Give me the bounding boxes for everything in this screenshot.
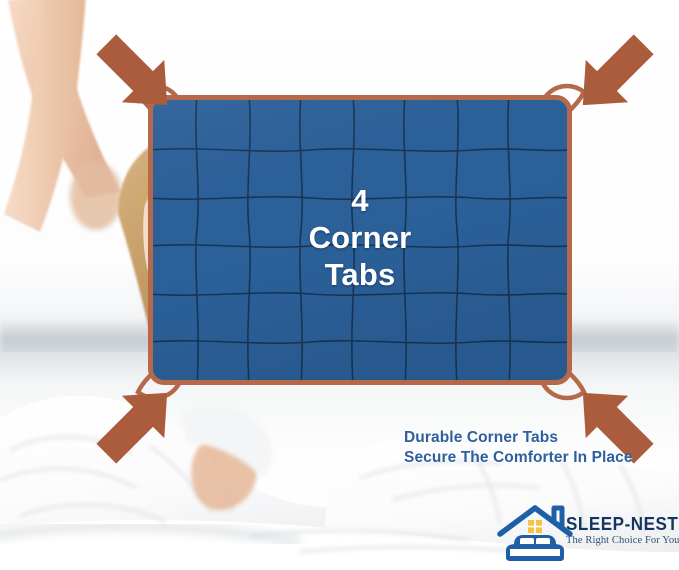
product-image: 4 Corner Tabs Durable Corner Tabs Secure…: [0, 0, 679, 570]
comforter-body: [148, 95, 572, 385]
arrow-bottom-left: [82, 378, 190, 470]
arrow-top-left: [82, 28, 190, 120]
arrow-top-right: [560, 28, 668, 120]
house-with-bed-icon: [496, 504, 574, 562]
logo-tagline: The Right Choice For You: [566, 534, 674, 547]
blue-comforter: [148, 95, 572, 385]
quilt-stitch-grid: [153, 100, 567, 380]
caption-text: Durable Corner Tabs Secure The Comforter…: [404, 428, 633, 468]
logo-wordmark: SLEEP-NEST: [566, 514, 665, 534]
caption-line-1: Durable Corner Tabs: [404, 428, 633, 448]
caption-line-2: Secure The Comforter In Place: [404, 448, 633, 468]
logo-text-block: SLEEP-NEST The Right Choice For You: [566, 514, 674, 547]
brand-logo: SLEEP-NEST The Right Choice For You: [496, 504, 672, 564]
